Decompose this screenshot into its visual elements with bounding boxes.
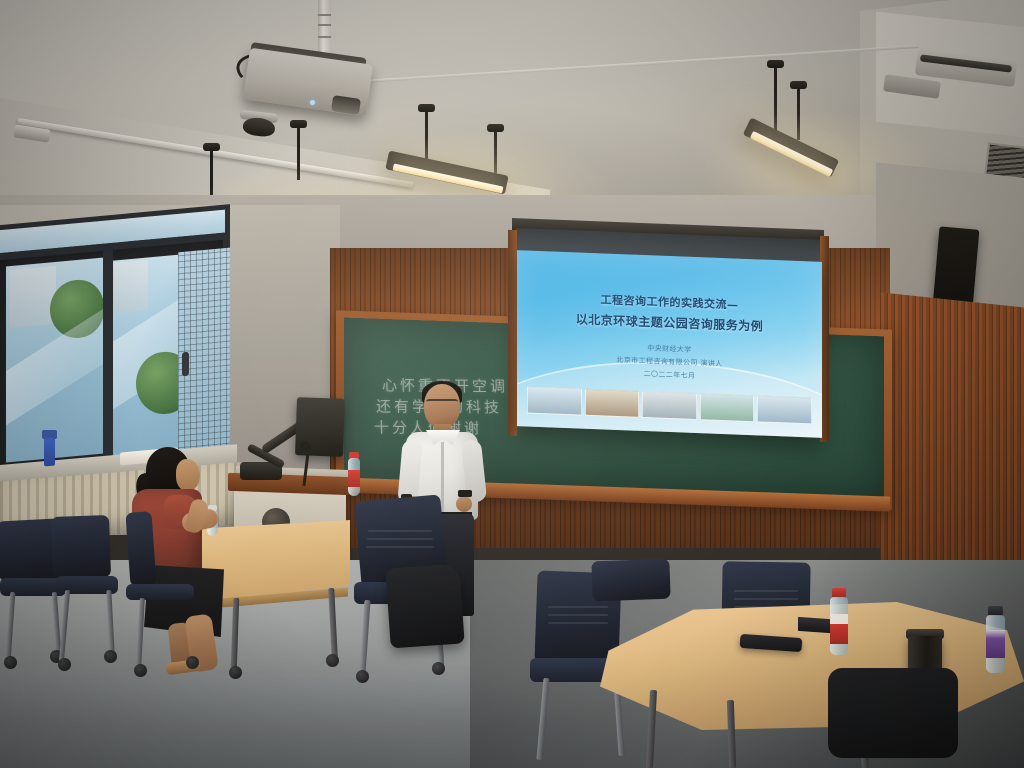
slide-thumbnail (585, 389, 640, 418)
window-view-building-b (114, 259, 148, 312)
table-left-caster-a (229, 666, 242, 679)
bag-foreground-right[interactable] (828, 668, 958, 758)
chair-back-slot (548, 606, 608, 608)
projector-status-led-icon (310, 100, 315, 105)
chair-caster (58, 658, 71, 671)
wall-speaker (933, 226, 980, 309)
bottle-label (348, 470, 360, 487)
chair-back-slot (548, 614, 608, 616)
presenter-glasses-icon (426, 399, 458, 408)
attendee-face (176, 459, 200, 491)
slide-thumbnail (642, 391, 697, 420)
pendant-rod-right-a (797, 88, 800, 140)
chair-caster (4, 656, 17, 669)
window-mullion (103, 250, 113, 463)
window-handle[interactable] (182, 352, 189, 377)
chair-back (51, 515, 111, 579)
chair-caster (134, 664, 147, 677)
window-view-building-a (10, 266, 56, 328)
chair-caster (432, 662, 445, 675)
chair-seat (126, 584, 194, 600)
nameplate (798, 617, 830, 633)
chair-caster (186, 656, 199, 669)
chair-back (125, 511, 156, 587)
chair-caster (356, 670, 369, 683)
slide-thumbnail (700, 393, 755, 422)
presenter-hand-right (456, 496, 472, 512)
chair-back (591, 559, 670, 602)
chair-back-slot (548, 622, 608, 624)
presenter-shirt-placket (441, 442, 444, 516)
bottle-label (830, 614, 848, 644)
pendant-rod-left-b (297, 127, 300, 180)
screen-frame-left (508, 230, 517, 436)
chair-back-slot (367, 538, 433, 540)
classroom-photo: 心怀重不开空调 还有学科的科技 十分人们谢谢 工程咨询工作的实践交流— 以北京环… (0, 0, 1024, 768)
spray-bottle[interactable] (44, 438, 55, 467)
slide-thumbnail (527, 387, 582, 416)
chair-caster (104, 650, 117, 663)
pendant-rod-center-b (494, 131, 497, 173)
chair-back-slot (734, 590, 798, 592)
chair-back-slot (366, 546, 434, 548)
projector-mount-pole (318, 0, 331, 56)
chair-back-slot (368, 530, 432, 532)
bottle-label (986, 630, 1005, 658)
projection-screen: 工程咨询工作的实践交流— 以北京环球主题公园咨询服务为例 中央财经大学 北京市工… (517, 250, 822, 438)
presenter-wristwatch (458, 490, 472, 497)
table-left-caster-b (326, 654, 339, 667)
slide-thumbnail (757, 395, 812, 424)
chair-back-slot (734, 598, 798, 600)
backpack-on-chair[interactable] (385, 564, 464, 649)
